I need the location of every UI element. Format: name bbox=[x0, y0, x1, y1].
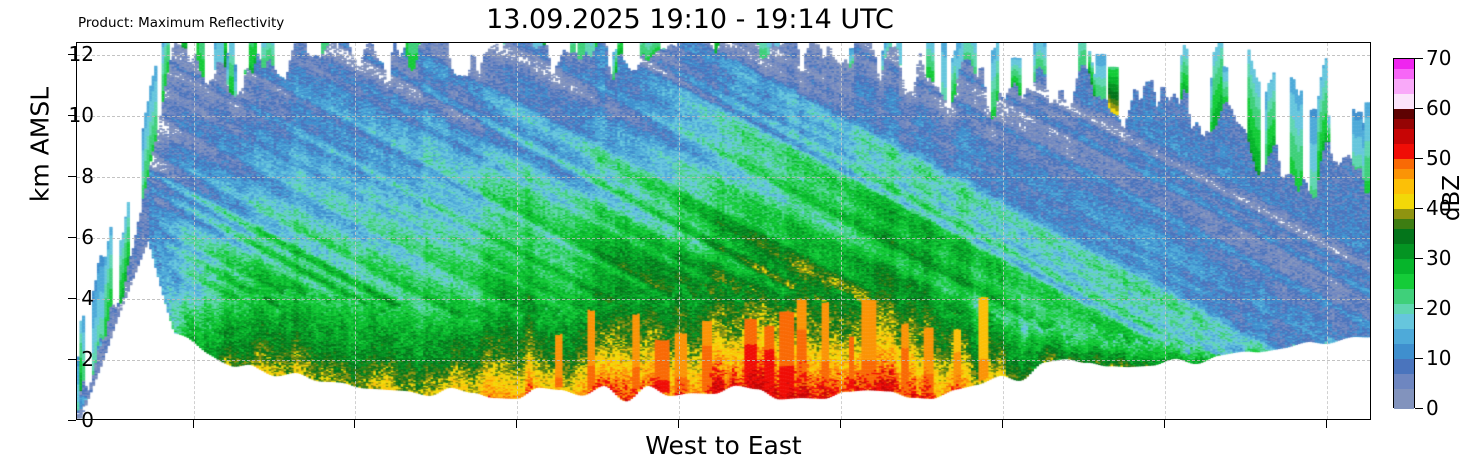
x-tick-mark bbox=[1326, 420, 1327, 428]
colorbar-tick-mark bbox=[1415, 108, 1423, 109]
colorbar-tick-label: 70 bbox=[1426, 46, 1451, 70]
colorbar-tick-mark bbox=[1415, 58, 1423, 59]
colorbar-band bbox=[1394, 359, 1414, 374]
y-tick-label: 0 bbox=[81, 408, 94, 432]
x-tick-mark bbox=[1002, 420, 1003, 428]
y-tick-label: 8 bbox=[81, 164, 94, 188]
colorbar-band bbox=[1394, 219, 1414, 229]
colorbar-tick-mark bbox=[1415, 408, 1423, 409]
colorbar-band bbox=[1394, 304, 1414, 314]
x-tick-mark bbox=[1164, 420, 1165, 428]
colorbar-band bbox=[1394, 119, 1414, 129]
colorbar-band bbox=[1394, 169, 1414, 179]
y-tick-mark bbox=[68, 237, 76, 238]
colorbar-band bbox=[1394, 109, 1414, 119]
colorbar-tick-label: 40 bbox=[1426, 196, 1451, 220]
colorbar-band bbox=[1394, 259, 1414, 274]
y-tick-mark bbox=[68, 420, 76, 421]
colorbar-band bbox=[1394, 274, 1414, 289]
y-tick-mark bbox=[68, 176, 76, 177]
colorbar-band bbox=[1394, 129, 1414, 144]
x-axis-label: West to East bbox=[76, 431, 1371, 460]
reflectivity-heatmap bbox=[77, 43, 1370, 419]
y-tick-mark bbox=[68, 359, 76, 360]
colorbar-tick-label: 0 bbox=[1426, 396, 1439, 420]
colorbar-tick-label: 50 bbox=[1426, 146, 1451, 170]
colorbar-band bbox=[1394, 289, 1414, 304]
colorbar-band bbox=[1394, 329, 1414, 344]
colorbar-tick-mark bbox=[1415, 208, 1423, 209]
colorbar-tick-label: 60 bbox=[1426, 96, 1451, 120]
colorbar-tick-label: 20 bbox=[1426, 296, 1451, 320]
colorbar-band bbox=[1394, 389, 1414, 409]
product-annotation: Product: Maximum Reflectivity bbox=[78, 15, 284, 31]
colorbar bbox=[1393, 58, 1415, 408]
x-tick-mark bbox=[840, 420, 841, 428]
y-tick-mark bbox=[68, 298, 76, 299]
x-tick-mark bbox=[516, 420, 517, 428]
colorbar-band bbox=[1394, 244, 1414, 259]
colorbar-band bbox=[1394, 94, 1414, 109]
y-tick-label: 10 bbox=[69, 103, 94, 127]
colorbar-band bbox=[1394, 344, 1414, 359]
colorbar-tick-mark bbox=[1415, 158, 1423, 159]
colorbar-band bbox=[1394, 69, 1414, 79]
colorbar-tick-mark bbox=[1415, 358, 1423, 359]
plot-area bbox=[76, 42, 1371, 420]
colorbar-band bbox=[1394, 179, 1414, 194]
colorbar-band bbox=[1394, 194, 1414, 209]
y-tick-label: 12 bbox=[69, 42, 94, 66]
colorbar-band bbox=[1394, 144, 1414, 159]
colorbar-band bbox=[1394, 209, 1414, 219]
colorbar-tick-mark bbox=[1415, 258, 1423, 259]
y-tick-label: 6 bbox=[81, 225, 94, 249]
y-tick-label: 2 bbox=[81, 347, 94, 371]
colorbar-tick-mark bbox=[1415, 308, 1423, 309]
x-tick-mark bbox=[193, 420, 194, 428]
reflectivity-canvas bbox=[77, 43, 1371, 420]
colorbar-band bbox=[1394, 59, 1414, 69]
colorbar-band bbox=[1394, 229, 1414, 244]
x-tick-mark bbox=[678, 420, 679, 428]
colorbar-band bbox=[1394, 79, 1414, 94]
colorbar-band bbox=[1394, 314, 1414, 329]
colorbar-gradient bbox=[1393, 58, 1415, 408]
colorbar-tick-label: 10 bbox=[1426, 346, 1451, 370]
colorbar-band bbox=[1394, 374, 1414, 389]
radar-cross-section-figure: 13.09.2025 19:10 - 19:14 UTC Product: Ma… bbox=[0, 0, 1482, 470]
colorbar-band bbox=[1394, 159, 1414, 169]
x-tick-mark bbox=[354, 420, 355, 428]
y-tick-label: 4 bbox=[81, 286, 94, 310]
y-axis-label: km AMSL bbox=[26, 45, 55, 245]
colorbar-tick-label: 30 bbox=[1426, 246, 1451, 270]
